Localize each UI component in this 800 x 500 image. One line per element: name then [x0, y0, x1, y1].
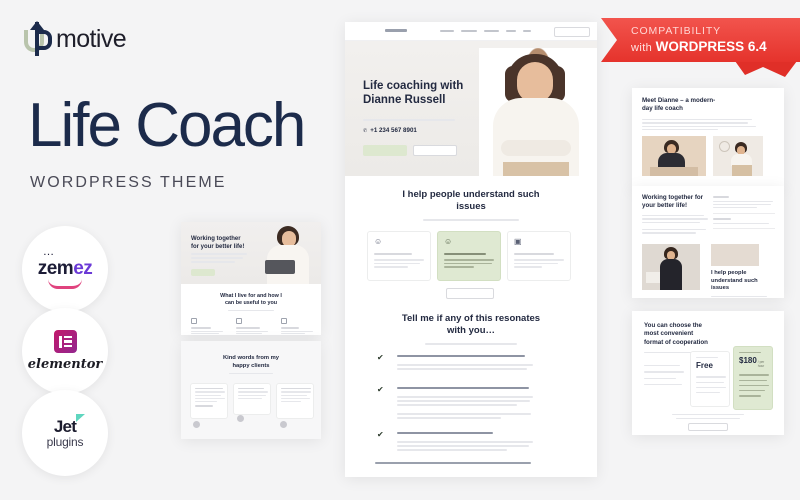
resonate-section: Tell me if any of this resonates with yo…: [345, 299, 597, 477]
plan-features: [644, 365, 686, 385]
nav-item[interactable]: [440, 30, 454, 33]
mock-title: You can choose the most convenient forma…: [644, 322, 712, 347]
pricing-button[interactable]: [688, 423, 728, 431]
mock-photo: [642, 136, 706, 176]
ribbon-tail: [735, 61, 797, 77]
mock-title: Working together for your better life!: [191, 236, 249, 252]
user-icon: ☺: [374, 238, 424, 246]
elementor-icon: [54, 330, 77, 353]
hero-secondary-button[interactable]: [413, 145, 457, 156]
hero-section: Life coaching with Dianne Russell ✆ +1 2…: [345, 41, 597, 176]
mock-photo: [711, 244, 759, 266]
hero-primary-button[interactable]: [363, 145, 407, 156]
jet-flag-icon: [76, 414, 85, 422]
page-subtitle: WORDPRESS THEME: [30, 174, 227, 192]
plan-card-free[interactable]: Free: [690, 351, 730, 407]
nav-item[interactable]: [484, 30, 499, 33]
mock-title: Working together for your better life!: [642, 194, 710, 211]
jet-sublabel: plugins: [47, 435, 84, 449]
mock-photo: [713, 136, 763, 176]
avatar: [193, 421, 200, 428]
elementor-label: elementor: [28, 357, 102, 372]
resonate-title: Tell me if any of this resonates with yo…: [395, 313, 547, 338]
mock-cta-button[interactable]: [191, 269, 215, 276]
badge-elementor: elementor: [22, 308, 108, 394]
zemez-smile-icon: [48, 279, 82, 289]
preview-homepage[interactable]: Life coaching with Dianne Russell ✆ +1 2…: [345, 22, 597, 477]
balance-icon: ☺: [444, 238, 494, 246]
mock-title: Kind words from my happy clients: [215, 355, 287, 371]
preview-pricing[interactable]: You can choose the most convenient forma…: [632, 311, 784, 435]
badge-jetplugins: Jet plugins: [22, 390, 108, 476]
hero-title: Life coaching with Dianne Russell: [363, 79, 468, 108]
nav-item[interactable]: [461, 30, 477, 33]
avatar: [280, 421, 287, 428]
resonate-footnote: [375, 462, 531, 464]
plan-card-paid[interactable]: $180 / per hour: [733, 346, 773, 410]
logo-wordmark: motive: [56, 25, 126, 54]
preview-meet-dianne[interactable]: Meet Dianne – a modern-day life coach: [632, 88, 784, 190]
preview-kind-words[interactable]: Kind words from my happy clients: [181, 341, 321, 439]
services-button[interactable]: [446, 288, 494, 299]
zemez-dots-icon: ···: [44, 250, 55, 259]
up-arrow-icon: [24, 22, 54, 56]
mock-title: What I live for and how I can be useful …: [215, 293, 287, 308]
services-section: I help people understand such issues ☺ ☺: [345, 176, 597, 299]
check-icon: ✔: [377, 430, 384, 439]
nav-item[interactable]: [523, 30, 531, 33]
accordion[interactable]: [713, 196, 775, 229]
page-title: Life Coach: [28, 95, 304, 157]
zemez-logo: ··· zemez: [38, 258, 93, 280]
hero-phone[interactable]: ✆ +1 234 567 8901: [363, 127, 417, 134]
upmotive-logo: motive: [24, 22, 126, 56]
plan-price: $180: [739, 356, 757, 365]
decision-icon: ▣: [514, 238, 564, 246]
mock-title: Meet Dianne – a modern-day life coach: [642, 97, 716, 114]
nav-menu[interactable]: [440, 30, 531, 33]
ribbon-line-1: COMPATIBILITY: [631, 25, 800, 38]
site-logo[interactable]: [385, 29, 407, 32]
compatibility-ribbon: COMPATIBILITY with WORDPRESS 6.4: [601, 18, 800, 62]
services-title: I help people understand such issues: [391, 189, 551, 214]
check-icon: ✔: [377, 385, 384, 394]
plan-price: Free: [696, 361, 724, 370]
preview-working-right[interactable]: Working together for your better life!: [632, 186, 784, 298]
phone-icon: ✆: [363, 128, 367, 134]
plan-period: / per hour: [758, 360, 767, 368]
nav-item[interactable]: [506, 30, 516, 33]
jet-label: Jet: [54, 417, 76, 437]
services-cards: ☺ ☺ ▣: [367, 231, 571, 281]
badge-list: ··· zemez elementor Jet plugins: [22, 226, 108, 471]
service-card[interactable]: ☺: [367, 231, 431, 281]
ribbon-line-2: with WORDPRESS 6.4: [631, 38, 800, 56]
avatar: [237, 415, 244, 422]
mock-subtitle: I help people understand such issues: [711, 270, 761, 293]
mock-photo: [642, 244, 700, 290]
check-icon: ✔: [377, 353, 384, 362]
service-card[interactable]: ☺: [437, 231, 501, 281]
poster-canvas: motive Life Coach WORDPRESS THEME ··· ze…: [0, 0, 800, 500]
nav-cta-button[interactable]: [554, 27, 590, 37]
hero-photo: [479, 48, 597, 176]
badge-zemez: ··· zemez: [22, 226, 108, 312]
service-card[interactable]: ▣: [507, 231, 571, 281]
preview-working-together[interactable]: Working together for your better life! W…: [181, 222, 321, 335]
